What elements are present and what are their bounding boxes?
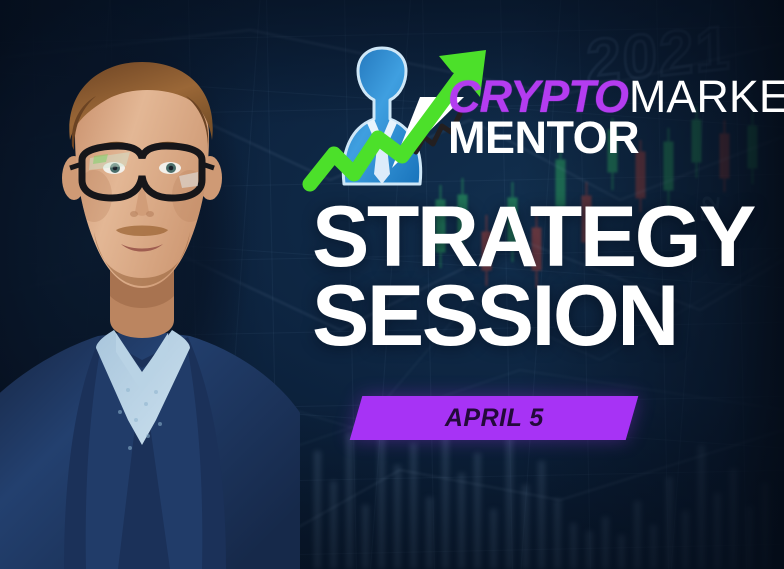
brand-logo: CRYPTOMARKET MENTOR	[300, 42, 770, 192]
headline-line-strategy: STRATEGY	[312, 198, 772, 277]
thumbnail-canvas: 2021 21 52	[0, 0, 784, 569]
logo-wordmark: CRYPTOMARKET MENTOR	[448, 76, 778, 160]
logo-line-one: CRYPTOMARKET	[448, 76, 778, 117]
logo-word-mentor: MENTOR	[448, 112, 639, 163]
headline-line-session: SESSION	[312, 277, 772, 356]
date-banner: APRIL 5	[350, 396, 639, 440]
logo-line-two: MENTOR	[448, 115, 778, 160]
date-banner-label: APRIL 5	[445, 404, 544, 433]
logo-word-market: MARKET	[629, 71, 784, 122]
headline-block: STRATEGY SESSION	[312, 198, 772, 356]
portrait-suit	[0, 258, 300, 569]
portrait-head	[62, 62, 222, 300]
portrait-photo	[0, 0, 300, 569]
